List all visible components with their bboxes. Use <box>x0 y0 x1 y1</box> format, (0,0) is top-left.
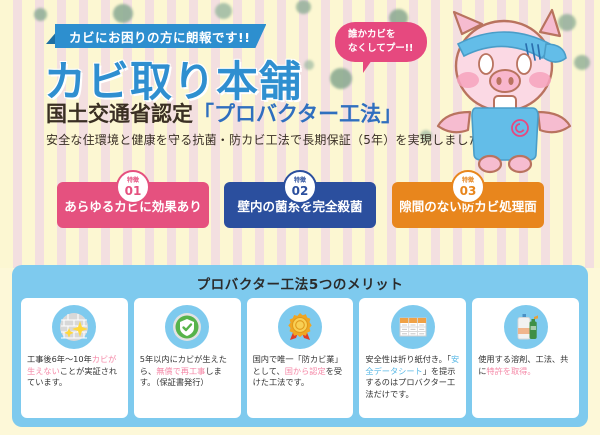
merit-text-2: 5年以内にカビが生えたら、無償で再工事します。（保証書発行） <box>140 354 235 389</box>
pig-mascot-icon <box>428 4 578 174</box>
page-subtitle: 国土交通省認定「プロバクター工法」 <box>46 98 402 128</box>
speech-line-2: なくしてプー!! <box>348 42 427 56</box>
feature-badge-01: 特徴 01 <box>116 170 150 204</box>
mold-blob-icon <box>113 4 133 23</box>
feature-card-03[interactable]: 特徴 03 隙間のない防カビ処理面 <box>392 182 544 228</box>
merit-text-5: 使用する溶剤、工法、共に特許を取得。 <box>478 354 573 377</box>
mascot-speech-bubble: 誰かカビを なくしてプー!! <box>335 22 427 62</box>
feature-card-02[interactable]: 特徴 02 壁内の菌糸を完全殺菌 <box>224 182 376 228</box>
mold-blob-icon <box>296 0 311 14</box>
mold-blob-icon <box>304 60 314 70</box>
mold-blob-icon <box>215 3 232 19</box>
merit-card-4[interactable]: 安全性は折り紙付き。「安全データシート」を提示するのはプロバクター工法だけです。 <box>359 298 466 418</box>
merit-text-highlight: 無償で再工事 <box>156 366 205 376</box>
feature-badge-label: 特徴 <box>462 178 474 184</box>
feature-badge-03: 特徴 03 <box>451 170 485 204</box>
mold-blob-icon <box>34 8 47 21</box>
merit-text-part: 工事後6年〜10年 <box>27 354 92 364</box>
gold-medal-icon <box>278 305 322 349</box>
feature-badge-number: 02 <box>292 185 309 197</box>
feature-badge-row: 特徴 01 あらゆるカビに効果あり 特徴 02 壁内の菌糸を完全殺菌 特徴 03… <box>0 170 600 232</box>
subtitle-certification: 国土交通省認定 <box>46 102 193 126</box>
speech-line-1: 誰かカビを <box>348 28 427 42</box>
merit-card-1[interactable]: 工事後6年〜10年カビが生えないことが実証されています。 <box>21 298 128 418</box>
merit-text-part: 安全性は折り紙付き。「 <box>365 354 451 364</box>
merits-card-list: 工事後6年〜10年カビが生えないことが実証されています。 5年以内にカビが生えた… <box>21 298 579 418</box>
feature-badge-label: 特徴 <box>294 178 306 184</box>
merit-text-4: 安全性は折り紙付き。「安全データシート」を提示するのはプロバクター工法だけです。 <box>365 354 460 400</box>
merit-card-5[interactable]: 使用する溶剤、工法、共に特許を取得。 <box>472 298 579 418</box>
hero-ribbon-banner: カビにお困りの方に朗報です!! <box>55 24 266 48</box>
page-tagline: 安全な住環境と健康を守る抗菌・防カビ工法で長期保証（5年）を実現しました！ <box>46 131 493 148</box>
mold-blob-icon <box>330 68 352 89</box>
feature-badge-02: 特徴 02 <box>283 170 317 204</box>
merit-card-2[interactable]: 5年以内にカビが生えたら、無償で再工事します。（保証書発行） <box>134 298 241 418</box>
merit-text-highlight: 国から認定 <box>285 366 326 376</box>
document-table-icon <box>391 305 435 349</box>
feature-card-01[interactable]: 特徴 01 あらゆるカビに効果あり <box>57 182 209 228</box>
landing-page: カビにお困りの方に朗報です!! カビ取り本舗 国土交通省認定「プロバクター工法」… <box>0 0 600 435</box>
feature-badge-number: 03 <box>460 185 477 197</box>
merit-text-3: 国内で唯一「防カビ業」として、国から認定を受けた工法です。 <box>253 354 348 389</box>
feature-badge-label: 特徴 <box>127 178 139 184</box>
green-shield-check-icon <box>165 305 209 349</box>
merit-text-1: 工事後6年〜10年カビが生えないことが実証されています。 <box>27 354 122 389</box>
subtitle-method-name: 「プロバクター工法」 <box>193 102 402 126</box>
brick-wall-sparkle-icon <box>52 305 96 349</box>
merit-text-highlight: 特許を取得。 <box>486 366 535 376</box>
merits-title: プロバクター工法5つのメリット <box>12 273 588 293</box>
feature-badge-number: 01 <box>125 185 142 197</box>
merits-panel: プロバクター工法5つのメリット <box>12 265 588 427</box>
merit-card-3[interactable]: 国内で唯一「防カビ業」として、国から認定を受けた工法です。 <box>247 298 354 418</box>
cleaning-bottles-icon <box>504 305 548 349</box>
